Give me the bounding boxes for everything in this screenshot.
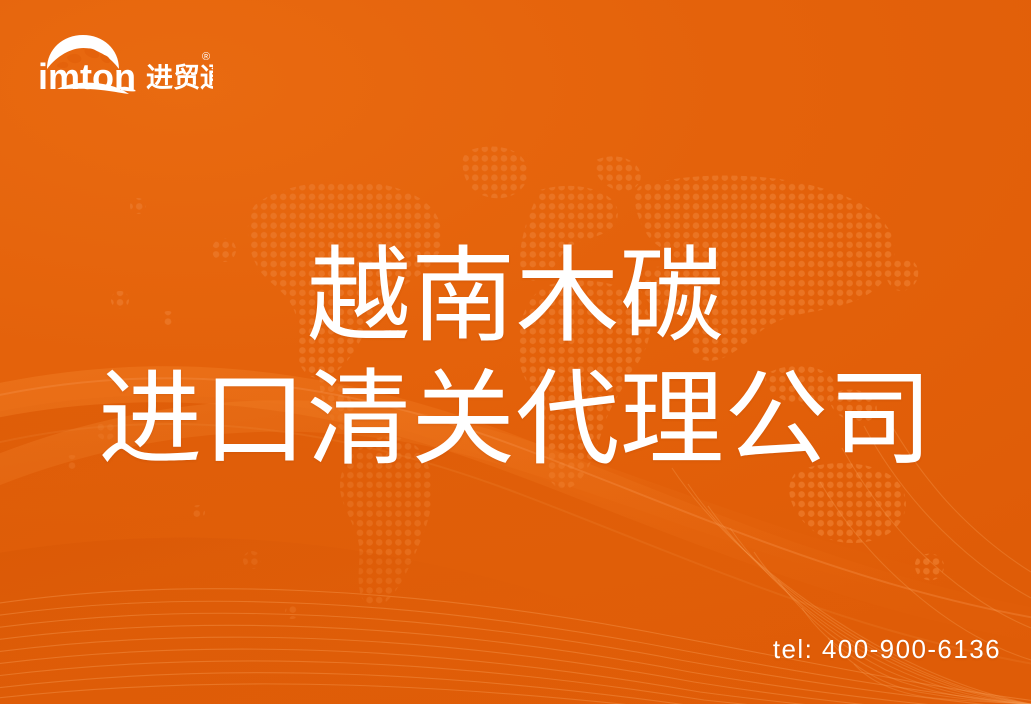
contact-phone[interactable]: tel: 400-900-6136: [773, 634, 1001, 665]
page-title: 越南木碳 进口清关代理公司: [0, 236, 1031, 481]
promo-banner: imton 进贸通 ® imton 进贸通 ® 越南木碳 进口清关代理公司 te…: [0, 0, 1031, 704]
headline-line-1: 越南木碳: [0, 236, 1031, 359]
headline-line-2: 进口清关代理公司: [0, 359, 1031, 482]
logo-chinese-name: 进贸通: [146, 63, 213, 93]
brand-logo[interactable]: imton 进贸通 ® imton 进贸通 ®: [33, 27, 213, 99]
logo-wordmark: imton: [38, 56, 136, 97]
registered-trademark-icon: ®: [202, 51, 210, 63]
